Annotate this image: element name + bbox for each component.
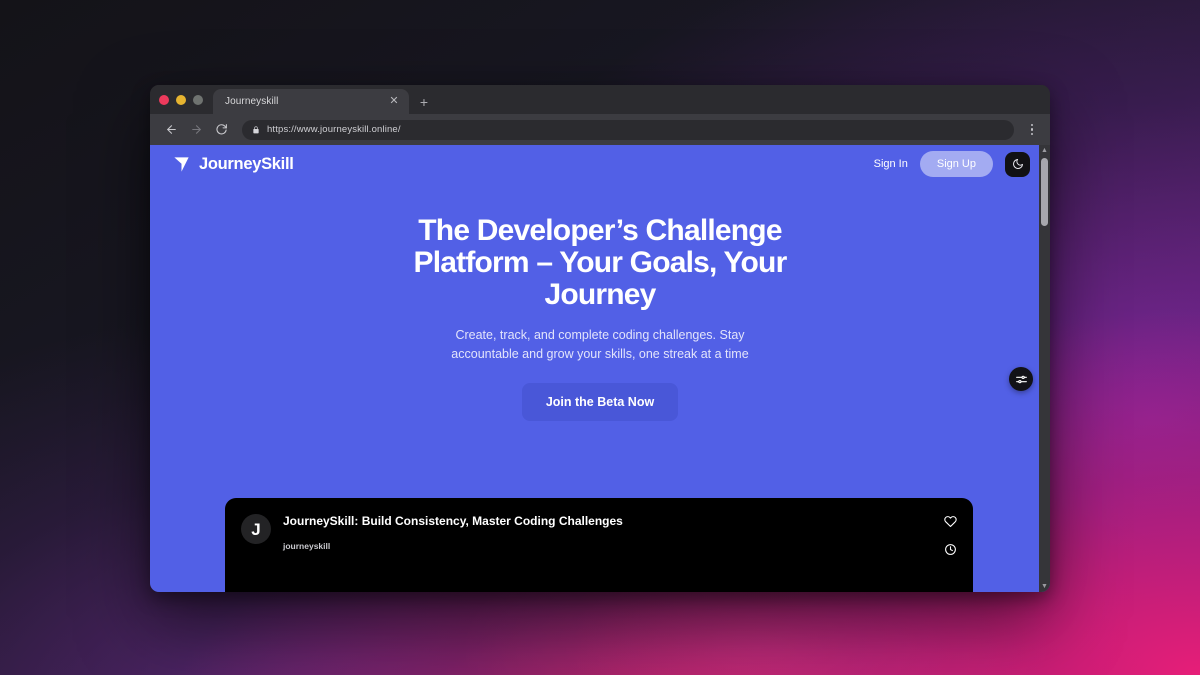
avatar-letter: J (251, 521, 260, 538)
clock-icon[interactable] (944, 543, 957, 556)
video-card-text: JourneySkill: Build Consistency, Master … (283, 512, 932, 592)
browser-toolbar: https://www.journeyskill.online/ (150, 114, 1050, 145)
hero-section: The Developer’s Challenge Platform – You… (150, 183, 1050, 421)
sign-in-link[interactable]: Sign In (874, 158, 908, 170)
address-bar[interactable]: https://www.journeyskill.online/ (242, 120, 1014, 140)
heart-icon[interactable] (944, 515, 957, 528)
lock-icon (252, 125, 260, 135)
site-header: JourneySkill Sign In Sign Up (150, 145, 1050, 183)
journeyskill-logo-icon (172, 155, 191, 174)
video-channel[interactable]: journeyskill (283, 541, 932, 551)
scrollbar-thumb[interactable] (1041, 158, 1048, 226)
brand-name: JourneySkill (199, 155, 294, 174)
hero-subheading: Create, track, and complete coding chall… (425, 326, 775, 362)
reload-icon[interactable] (210, 119, 232, 141)
arrow-right-icon[interactable] (185, 119, 207, 141)
page-viewport: JourneySkill Sign In Sign Up The Develop… (150, 145, 1050, 592)
join-beta-button[interactable]: Join the Beta Now (522, 383, 678, 421)
video-card-actions (944, 512, 957, 592)
window-traffic-lights (159, 85, 213, 114)
close-window-button[interactable] (159, 95, 169, 105)
browser-tab-strip: Journeyskill ✕ + (150, 85, 1050, 114)
address-bar-url: https://www.journeyskill.online/ (267, 124, 401, 135)
arrow-left-icon[interactable] (160, 119, 182, 141)
browser-window: Journeyskill ✕ + https://www.journeyskil… (150, 85, 1050, 592)
avatar[interactable]: J (241, 514, 271, 544)
accessibility-widget-button[interactable] (1009, 367, 1033, 391)
tab-title: Journeyskill (225, 96, 381, 107)
sliders-icon (1015, 373, 1028, 386)
header-actions: Sign In Sign Up (874, 151, 1030, 177)
kebab-menu-icon[interactable] (1022, 119, 1042, 141)
video-embed-card[interactable]: J JourneySkill: Build Consistency, Maste… (225, 498, 973, 592)
hero-heading: The Developer’s Challenge Platform – You… (370, 215, 830, 310)
brand[interactable]: JourneySkill (172, 155, 294, 174)
plus-icon[interactable]: + (412, 89, 436, 114)
moon-icon[interactable] (1005, 152, 1030, 177)
maximize-window-button[interactable] (193, 95, 203, 105)
sign-up-button[interactable]: Sign Up (920, 151, 993, 177)
caret-up-icon[interactable]: ▲ (1041, 145, 1048, 156)
minimize-window-button[interactable] (176, 95, 186, 105)
browser-tab[interactable]: Journeyskill ✕ (213, 89, 409, 114)
video-title[interactable]: JourneySkill: Build Consistency, Master … (283, 514, 932, 528)
caret-down-icon[interactable]: ▼ (1041, 581, 1048, 592)
page-scrollbar[interactable]: ▲ ▼ (1039, 145, 1050, 592)
close-icon[interactable]: ✕ (387, 95, 401, 109)
